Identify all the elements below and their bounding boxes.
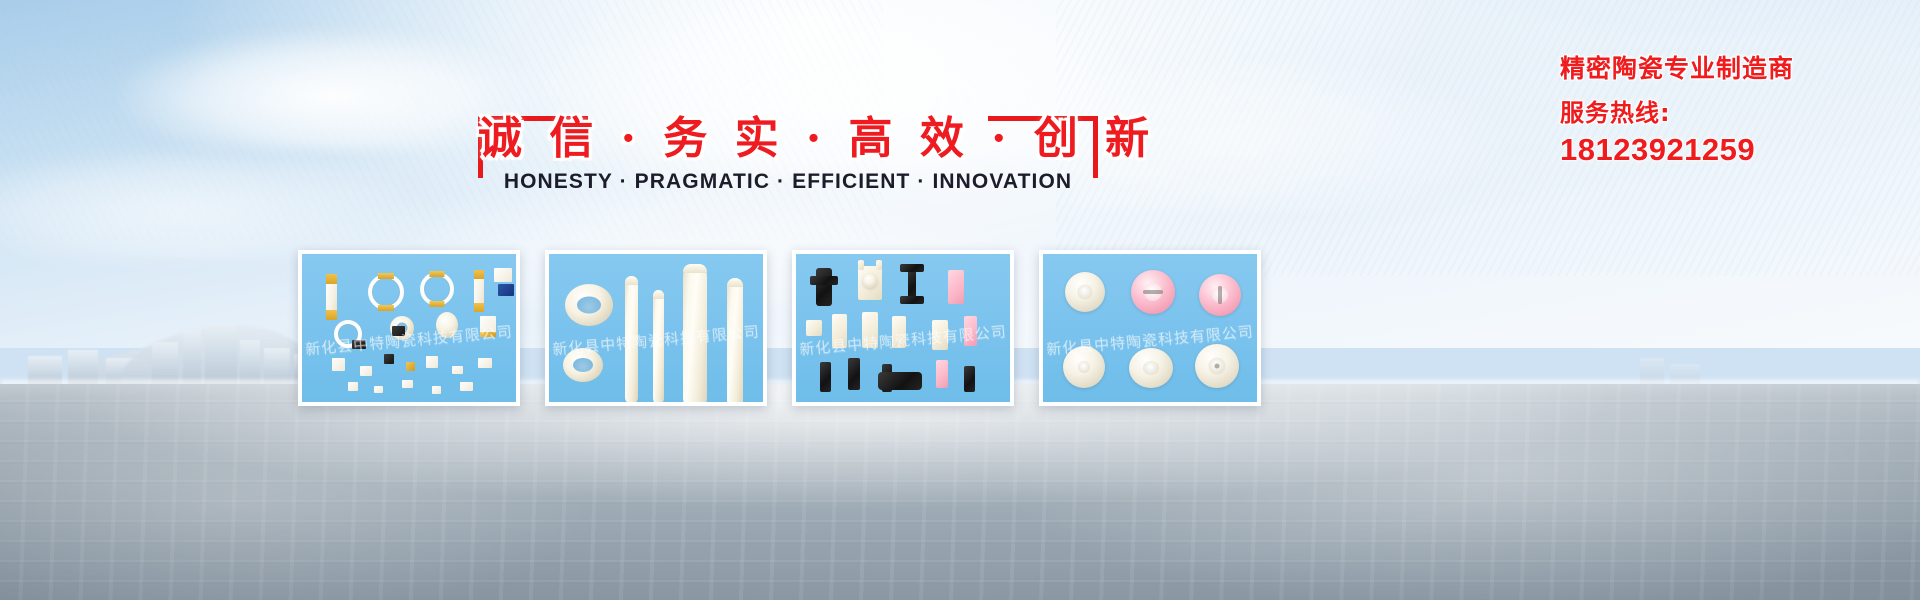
hotline-label: 服务热线: — [1560, 98, 1900, 128]
part-center — [1143, 361, 1159, 375]
ceramic-part — [374, 386, 383, 393]
ceramic-part — [392, 326, 405, 336]
ceramic-part — [406, 362, 415, 371]
part-detail — [378, 305, 394, 311]
ground-vignette — [0, 384, 1920, 600]
product-card-smd-components[interactable]: 新化县中特陶瓷科技有限公司 — [298, 250, 520, 406]
ceramic-part — [384, 354, 394, 364]
part-hole — [573, 358, 593, 372]
ceramic-part — [460, 382, 473, 391]
ceramic-part — [563, 348, 603, 382]
ceramic-part — [452, 366, 463, 374]
ceramic-part — [932, 320, 948, 350]
ceramic-part — [964, 316, 977, 346]
ceramic-part — [816, 268, 832, 306]
building — [152, 342, 178, 384]
ceramic-part — [900, 296, 924, 304]
contact-block: 精密陶瓷专业制造商 服务热线: 18123921259 — [1560, 52, 1900, 168]
ceramic-part — [332, 358, 345, 371]
ceramic-part — [1065, 272, 1105, 312]
part-center — [1078, 361, 1090, 373]
ceramic-part — [432, 386, 441, 394]
ceramic-part — [360, 366, 372, 376]
ceramic-part — [683, 264, 707, 406]
ceramic-part — [1063, 346, 1105, 388]
ceramic-part — [420, 272, 454, 306]
company-tagline: 精密陶瓷专业制造商 — [1560, 52, 1900, 86]
slogan-block: 诚 信 · 务 实 · 高 效 · 创 新 HONESTY · PRAGMATI… — [478, 108, 1098, 200]
ceramic-part — [478, 358, 492, 368]
ceramic-part — [876, 260, 882, 270]
ceramic-part — [900, 264, 924, 272]
ceramic-part — [892, 316, 906, 348]
ceramic-part — [806, 320, 822, 336]
building — [264, 348, 290, 384]
ceramic-part — [1195, 344, 1239, 388]
ceramic-part — [480, 332, 496, 337]
promo-banner: 诚 信 · 务 实 · 高 效 · 创 新 HONESTY · PRAGMATI… — [0, 0, 1920, 600]
slogan-chinese: 诚 信 · 务 实 · 高 效 · 创 新 — [478, 108, 1098, 170]
part-detail — [378, 273, 394, 279]
ceramic-part — [436, 312, 458, 338]
ceramic-part — [948, 270, 964, 304]
product-gallery: 新化县中特陶瓷科技有限公司 新化县中特陶瓷科技有限公司 — [298, 250, 1273, 406]
part-center — [1078, 285, 1093, 300]
ceramic-part — [727, 278, 743, 406]
ceramic-part — [625, 276, 638, 404]
part-hole — [577, 297, 601, 314]
ceramic-part — [878, 372, 922, 390]
product-card-discs-seals[interactable]: 新化县中特陶瓷科技有限公司 — [1039, 250, 1261, 406]
ceramic-part — [326, 274, 337, 320]
ceramic-part — [474, 270, 484, 312]
ceramic-part — [810, 276, 838, 285]
ceramic-part — [862, 312, 878, 348]
ceramic-part — [498, 284, 514, 296]
ceramic-part — [1129, 348, 1173, 388]
ceramic-part — [368, 274, 404, 310]
building — [68, 350, 98, 384]
ceramic-part — [820, 362, 831, 392]
ceramic-part — [352, 340, 366, 349]
part-detail — [429, 301, 444, 307]
ceramic-part — [494, 268, 512, 282]
part-slot — [1215, 364, 1220, 369]
ceramic-part — [1199, 274, 1241, 316]
hotline-number[interactable]: 18123921259 — [1560, 132, 1900, 168]
ceramic-part — [402, 380, 413, 388]
ceramic-part — [832, 314, 847, 348]
ceramic-part — [426, 356, 438, 368]
ceramic-part — [858, 260, 864, 270]
part-detail — [429, 271, 444, 277]
product-card-tubes-rods[interactable]: 新化县中特陶瓷科技有限公司 — [545, 250, 767, 406]
ceramic-part — [348, 382, 358, 391]
ceramic-part — [964, 366, 975, 392]
part-slot — [1218, 286, 1222, 304]
product-card-insulator-parts[interactable]: 新化县中特陶瓷科技有限公司 — [792, 250, 1014, 406]
ceramic-part — [848, 358, 860, 390]
part-slot — [1143, 290, 1163, 294]
ceramic-part — [863, 274, 877, 288]
ceramic-part — [1131, 270, 1175, 314]
ceramic-part — [565, 284, 613, 326]
slogan-english: HONESTY · PRAGMATIC · EFFICIENT · INNOVA… — [478, 170, 1098, 194]
ceramic-part — [653, 290, 664, 404]
ceramic-part — [936, 360, 948, 388]
